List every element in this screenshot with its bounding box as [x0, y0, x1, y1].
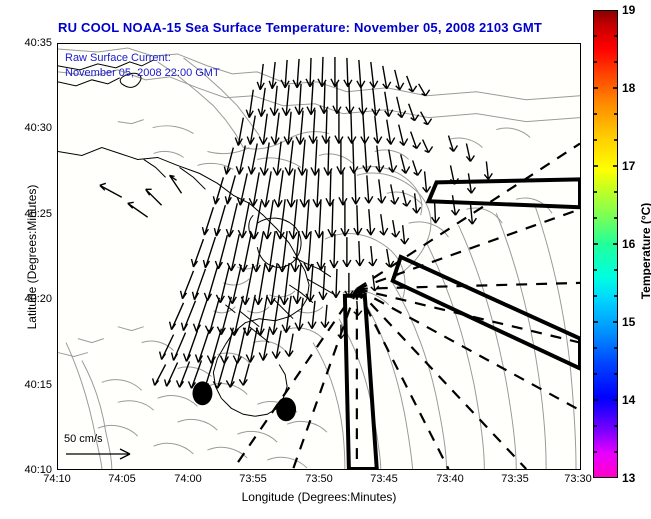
x-axis-label: Longitude (Degrees:Minutes)	[57, 490, 581, 504]
xtick-5: 73:45	[370, 473, 398, 485]
station-markers	[192, 381, 296, 421]
ytick-4-text: 40:15	[24, 379, 52, 391]
ytick-5-text: 40:10	[24, 464, 52, 476]
ytick-0-text: 40:35	[24, 37, 52, 49]
ytick-0: 40:35	[52, 37, 80, 49]
xtick-7: 73:35	[501, 473, 529, 485]
ytick-2: 40:25	[52, 208, 80, 220]
current-vectors	[100, 57, 492, 389]
ytick-3: 40:20	[52, 293, 80, 305]
scale-legend-arrow	[64, 445, 154, 463]
xtick-2: 74:00	[174, 473, 202, 485]
cbtick-15: 15	[622, 315, 635, 329]
cbtick-13: 13	[622, 471, 635, 485]
cbtick-19: 19	[622, 3, 635, 17]
ytick-5: 40:10	[52, 464, 80, 476]
cbtick-18: 18	[622, 81, 635, 95]
scale-legend-label: 50 cm/s	[64, 433, 154, 445]
cbtick-16: 16	[622, 237, 635, 251]
xtick-6: 73:40	[436, 473, 464, 485]
ytick-1-text: 40:30	[24, 122, 52, 134]
map-plot-area: Raw Surface Current: November 05, 2008 2…	[57, 43, 581, 470]
xtick-1: 74:05	[108, 473, 136, 485]
map-graphics	[58, 44, 580, 469]
bathymetry-contours	[58, 48, 580, 469]
colorbar-label: Temperature (°C)	[639, 171, 651, 331]
figure-canvas: RU COOL NOAA-15 Sea Surface Temperature:…	[0, 0, 651, 519]
xtick-8: 73:30	[564, 473, 592, 485]
ytick-4: 40:15	[52, 379, 80, 391]
xtick-3: 73:55	[239, 473, 267, 485]
cbtick-17: 17	[622, 159, 635, 173]
figure-title: RU COOL NOAA-15 Sea Surface Temperature:…	[0, 20, 600, 35]
y-axis-label: Latitude (Degrees:Minutes)	[25, 137, 39, 377]
scale-legend: 50 cm/s	[64, 433, 154, 468]
xtick-4: 73:50	[305, 473, 333, 485]
colorbar-ticks	[593, 10, 618, 478]
ytick-1: 40:30	[52, 122, 80, 134]
cbtick-14: 14	[622, 393, 635, 407]
